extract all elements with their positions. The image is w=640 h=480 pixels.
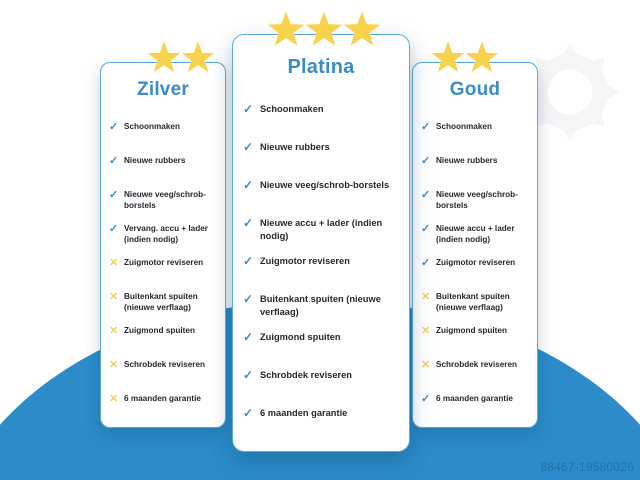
pricing-comparison-page: Zilver ✓Schoonmaken✓Nieuwe rubbers✓Nieuw… (0, 0, 640, 480)
plan-title-goud: Goud (413, 79, 537, 101)
feature-item: ✓Nieuwe accu + lader (indien nodig) (243, 217, 401, 255)
feature-list-platina: ✓Schoonmaken✓Nieuwe rubbers✓Nieuwe veeg/… (233, 103, 409, 445)
feature-label: Buitenkant spuiten (nieuwe verflaag) (436, 291, 531, 313)
feature-item: ✓Schrobdek reviseren (243, 369, 401, 407)
feature-label: Nieuwe rubbers (436, 155, 531, 166)
cross-icon: ✕ (109, 359, 124, 371)
feature-item: ✓Zuigmond spuiten (243, 331, 401, 369)
feature-item: ✓Nieuwe rubbers (109, 155, 219, 189)
feature-label: Zuigmond spuiten (260, 331, 401, 344)
cross-icon: ✕ (109, 291, 124, 303)
cross-icon: ✕ (421, 359, 436, 371)
feature-label: Zuigmotor reviseren (260, 255, 401, 268)
feature-label: Nieuwe rubbers (124, 155, 219, 166)
check-icon: ✓ (243, 369, 260, 381)
feature-item: ✕Zuigmotor reviseren (109, 257, 219, 291)
check-icon: ✓ (421, 223, 436, 235)
feature-label: Schrobdek reviseren (124, 359, 219, 370)
feature-label: Schrobdek reviseren (260, 369, 401, 382)
check-icon: ✓ (243, 293, 260, 305)
check-icon: ✓ (421, 257, 436, 269)
check-icon: ✓ (243, 217, 260, 229)
feature-label: Nieuwe accu + lader (indien nodig) (436, 223, 531, 245)
feature-label: Schoonmaken (124, 121, 219, 132)
feature-label: Zuigmond spuiten (124, 325, 219, 336)
feature-label: 6 maanden garantie (124, 393, 219, 404)
feature-item: ✓Nieuwe veeg/schrob-borstels (109, 189, 219, 223)
check-icon: ✓ (109, 121, 124, 133)
check-icon: ✓ (243, 407, 260, 419)
check-icon: ✓ (109, 223, 124, 235)
check-icon: ✓ (109, 155, 124, 167)
feature-item: ✕Zuigmond spuiten (109, 325, 219, 359)
feature-label: 6 maanden garantie (436, 393, 531, 404)
feature-list-goud: ✓Schoonmaken✓Nieuwe rubbers✓Nieuwe veeg/… (413, 121, 537, 427)
feature-item: ✕Buitenkant spuiten (nieuwe verflaag) (109, 291, 219, 325)
feature-item: ✕Schrobdek reviseren (421, 359, 531, 393)
feature-label: Buitenkant spuiten (nieuwe verflaag) (124, 291, 219, 313)
feature-item: ✓Schoonmaken (109, 121, 219, 155)
feature-label: Zuigmond spuiten (436, 325, 531, 336)
cross-icon: ✕ (109, 325, 124, 337)
feature-label: Nieuwe veeg/schrob-borstels (436, 189, 531, 211)
check-icon: ✓ (243, 179, 260, 191)
check-icon: ✓ (109, 189, 124, 201)
feature-label: Zuigmotor reviseren (124, 257, 219, 268)
check-icon: ✓ (421, 393, 436, 405)
feature-label: Nieuwe rubbers (260, 141, 401, 154)
feature-label: Nieuwe accu + lader (indien nodig) (260, 217, 401, 242)
check-icon: ✓ (421, 155, 436, 167)
feature-label: Schrobdek reviseren (436, 359, 531, 370)
feature-label: Schoonmaken (436, 121, 531, 132)
feature-item: ✓Nieuwe veeg/schrob-borstels (421, 189, 531, 223)
feature-item: ✓6 maanden garantie (421, 393, 531, 427)
feature-item: ✓6 maanden garantie (243, 407, 401, 445)
feature-label: Vervang. accu + lader (indien nodig) (124, 223, 219, 245)
cross-icon: ✕ (109, 257, 124, 269)
feature-item: ✓Vervang. accu + lader (indien nodig) (109, 223, 219, 257)
feature-item: ✕6 maanden garantie (109, 393, 219, 427)
feature-label: Schoonmaken (260, 103, 401, 116)
check-icon: ✓ (243, 141, 260, 153)
cross-icon: ✕ (421, 291, 436, 303)
feature-label: Zuigmotor reviseren (436, 257, 531, 268)
feature-item: ✓Buitenkant spuiten (nieuwe verflaag) (243, 293, 401, 331)
feature-label: 6 maanden garantie (260, 407, 401, 420)
feature-item: ✓Zuigmotor reviseren (421, 257, 531, 291)
plan-card-platina[interactable]: Platina ✓Schoonmaken✓Nieuwe rubbers✓Nieu… (232, 34, 410, 452)
feature-item: ✓Schoonmaken (421, 121, 531, 155)
cross-icon: ✕ (109, 393, 124, 405)
check-icon: ✓ (421, 121, 436, 133)
plan-card-goud[interactable]: Goud ✓Schoonmaken✓Nieuwe rubbers✓Nieuwe … (412, 62, 538, 428)
check-icon: ✓ (243, 331, 260, 343)
feature-item: ✓Nieuwe rubbers (243, 141, 401, 179)
feature-label: Buitenkant spuiten (nieuwe verflaag) (260, 293, 401, 318)
feature-item: ✕Buitenkant spuiten (nieuwe verflaag) (421, 291, 531, 325)
plan-title-zilver: Zilver (101, 79, 225, 101)
image-id-watermark: 88467-19580026 (540, 460, 634, 474)
plan-card-zilver[interactable]: Zilver ✓Schoonmaken✓Nieuwe rubbers✓Nieuw… (100, 62, 226, 428)
plan-title-platina: Platina (233, 56, 409, 79)
feature-item: ✓Schoonmaken (243, 103, 401, 141)
feature-list-zilver: ✓Schoonmaken✓Nieuwe rubbers✓Nieuwe veeg/… (101, 121, 225, 427)
feature-item: ✕Schrobdek reviseren (109, 359, 219, 393)
feature-item: ✓Zuigmotor reviseren (243, 255, 401, 293)
feature-item: ✓Nieuwe accu + lader (indien nodig) (421, 223, 531, 257)
feature-item: ✓Nieuwe rubbers (421, 155, 531, 189)
feature-label: Nieuwe veeg/schrob-borstels (260, 179, 401, 192)
check-icon: ✓ (243, 103, 260, 115)
cross-icon: ✕ (421, 325, 436, 337)
feature-label: Nieuwe veeg/schrob-borstels (124, 189, 219, 211)
check-icon: ✓ (421, 189, 436, 201)
check-icon: ✓ (243, 255, 260, 267)
feature-item: ✕Zuigmond spuiten (421, 325, 531, 359)
feature-item: ✓Nieuwe veeg/schrob-borstels (243, 179, 401, 217)
